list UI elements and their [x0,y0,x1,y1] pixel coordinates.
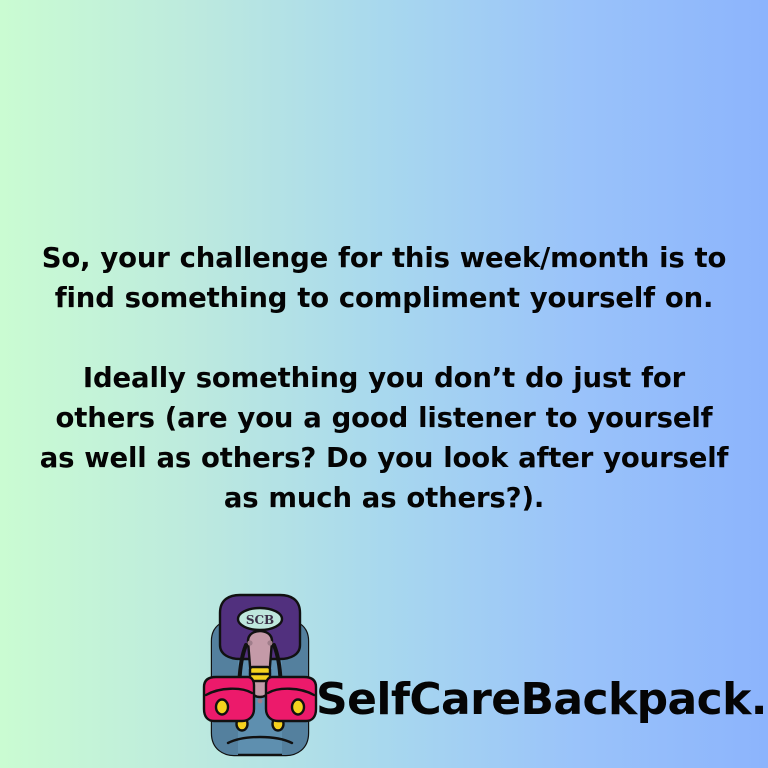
strap-rivet-left [247,640,252,645]
challenge-paragraph-2: Ideally something you don’t do just for … [34,358,734,518]
pocket-left [204,677,254,721]
pocket-right-button [292,700,304,715]
backpack-logo-icon: SCB [198,583,322,763]
site-name-wordmark[interactable]: SelfCareBackpack.com [316,674,768,726]
monogram-text: SCB [246,613,274,627]
backpack-illustration: SCB [198,583,322,763]
challenge-paragraph-1: So, your challenge for this week/month i… [34,238,734,318]
message-block: So, your challenge for this week/month i… [0,238,768,518]
challenge-card: So, your challenge for this week/month i… [0,0,768,768]
pocket-right [266,677,316,721]
pocket-left-button [216,700,228,715]
strap-rivet-right [267,640,272,645]
strap-hole [258,699,263,704]
brand-lockup: SCB [0,578,768,768]
